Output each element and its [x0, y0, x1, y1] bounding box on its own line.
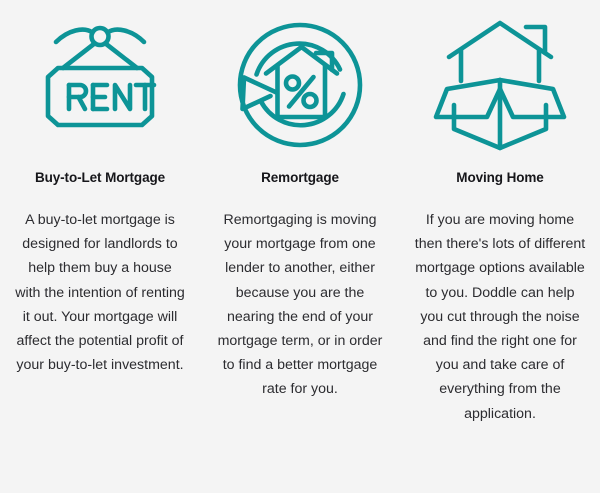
card-body: If you are moving home then there's lots…: [414, 208, 586, 426]
card-moving-home: Moving Home If you are moving home then …: [400, 0, 600, 493]
remortgage-percent-house-icon: [212, 0, 388, 170]
card-remortgage: Remortgage Remortgaging is moving your m…: [200, 0, 400, 493]
card-title: Remortgage: [261, 170, 339, 186]
card-body: A buy-to-let mortgage is designed for la…: [14, 208, 186, 377]
card-title: Buy-to-Let Mortgage: [35, 170, 165, 186]
mortgage-options-grid: Buy-to-Let Mortgage A buy-to-let mortgag…: [0, 0, 600, 493]
moving-house-box-icon: [412, 0, 588, 170]
card-body: Remortgaging is moving your mortgage fro…: [214, 208, 386, 402]
card-buy-to-let: Buy-to-Let Mortgage A buy-to-let mortgag…: [0, 0, 200, 493]
rent-sign-icon: [12, 0, 188, 170]
card-title: Moving Home: [456, 170, 543, 186]
